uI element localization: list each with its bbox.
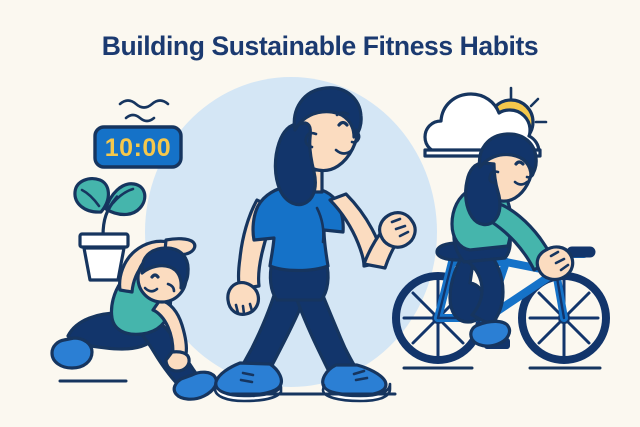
timer-value: 10:00 (105, 134, 171, 162)
plant-pot-rim (80, 234, 128, 247)
plant-pot-body (84, 248, 124, 280)
cycle-shoe (471, 321, 510, 346)
plant-leaf-left (75, 179, 108, 212)
fitness-illustration: .ol { fill: none; stroke: #16355f; strok… (0, 0, 640, 427)
stretch-hand-support (166, 352, 189, 371)
timer-widget[interactable]: 10:00 (95, 127, 181, 167)
walk-hair (275, 123, 315, 205)
scene-canvas: .ol { fill: none; stroke: #16355f; strok… (0, 0, 640, 427)
stretch-shoe-back (52, 338, 92, 368)
page-title: Building Sustainable Fitness Habits (102, 31, 539, 61)
